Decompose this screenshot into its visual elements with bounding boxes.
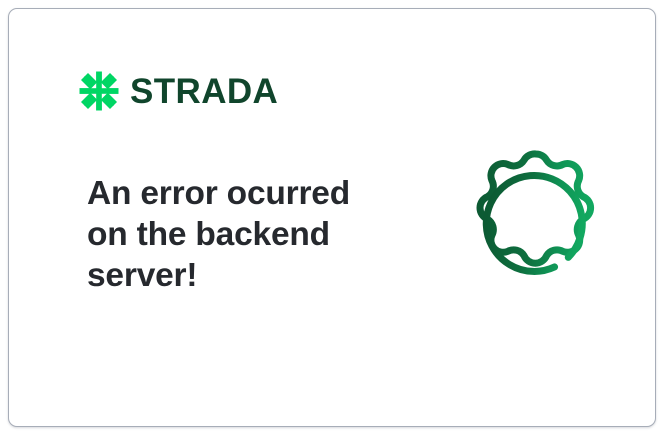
brand-wordmark: STRADA [130,74,278,109]
strada-asterisk-icon [79,71,119,111]
gear-icon [453,148,619,314]
brand-lockup: STRADA [79,71,278,111]
error-message: An error ocurred on the backend server! [87,173,377,296]
error-card: STRADA An error ocurred on the backend s… [8,8,656,427]
